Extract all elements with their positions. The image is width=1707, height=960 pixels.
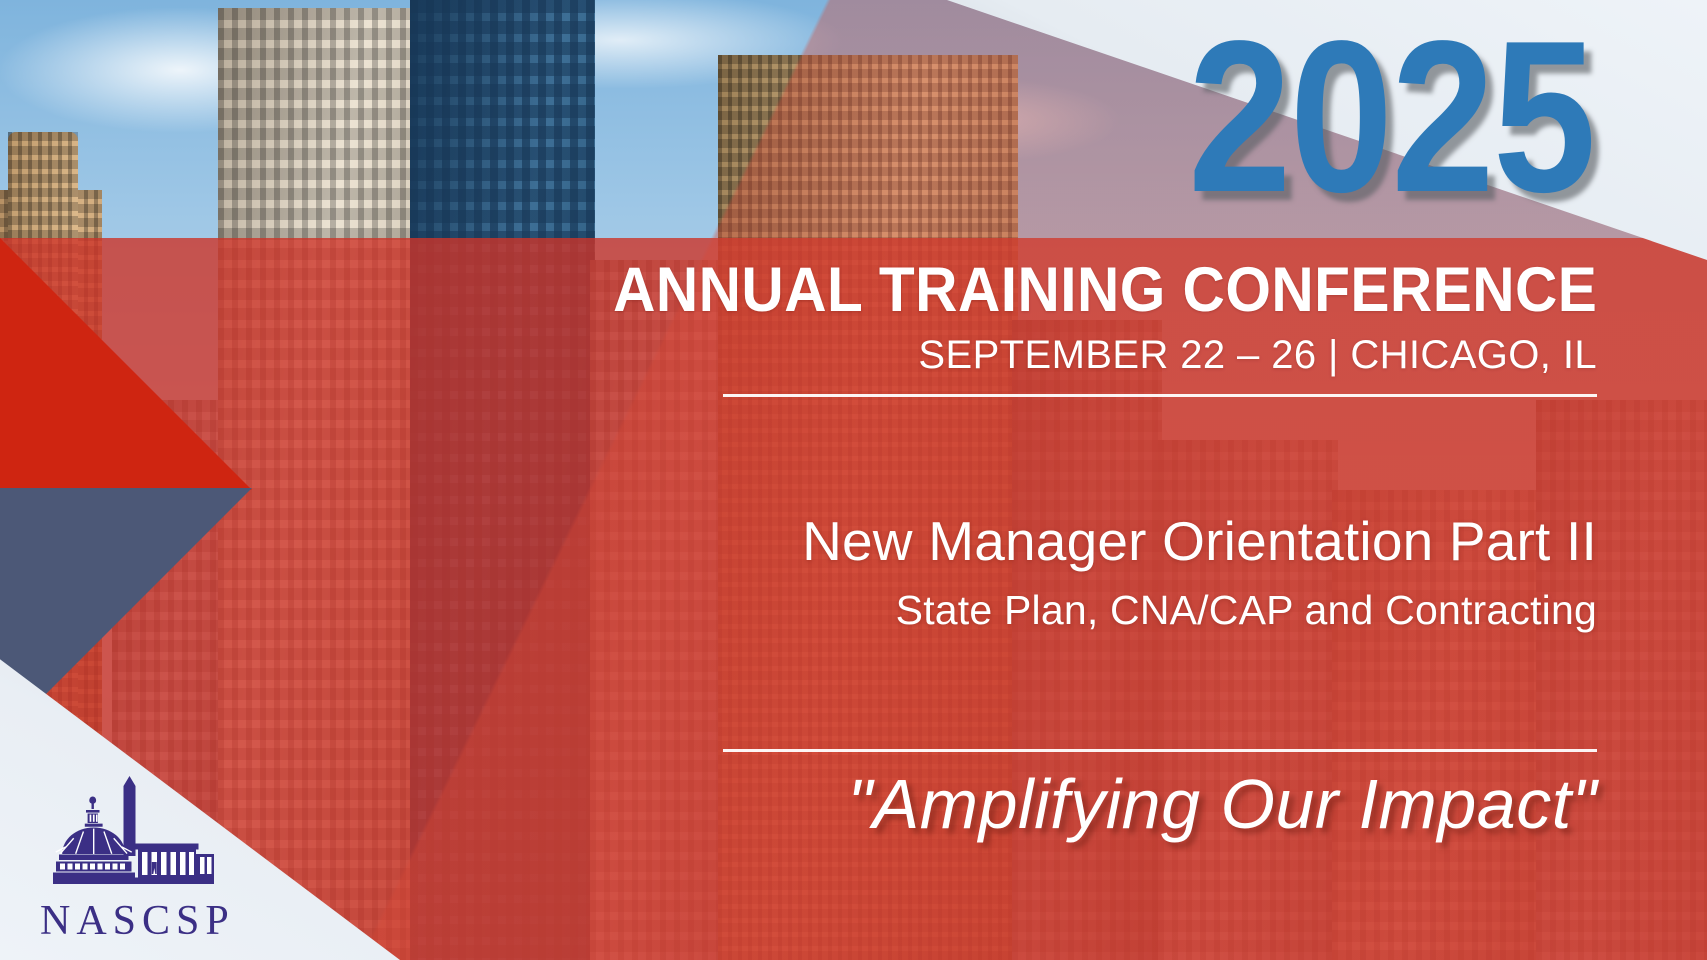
conference-dateline: SEPTEMBER 22 – 26 | CHICAGO, IL (918, 333, 1597, 377)
conference-year: 2025 (1189, 8, 1595, 224)
conference-title-slide: 2025 ANNUAL TRAINING CONFERENCE SEPTEMBE… (0, 0, 1707, 960)
session-subtitle: State Plan, CNA/CAP and Contracting (896, 588, 1597, 633)
session-title: New Manager Orientation Part II (802, 512, 1597, 571)
capitol-monument-memorial-icon (34, 770, 224, 898)
divider-rule-top (723, 394, 1597, 397)
nascsp-logo: NASCSP (34, 770, 224, 942)
conference-tagline: "Amplifying Our Impact" (847, 768, 1597, 842)
divider-rule-bottom (723, 749, 1597, 752)
page-title: ANNUAL TRAINING CONFERENCE (613, 258, 1597, 322)
nascsp-wordmark: NASCSP (34, 900, 224, 942)
